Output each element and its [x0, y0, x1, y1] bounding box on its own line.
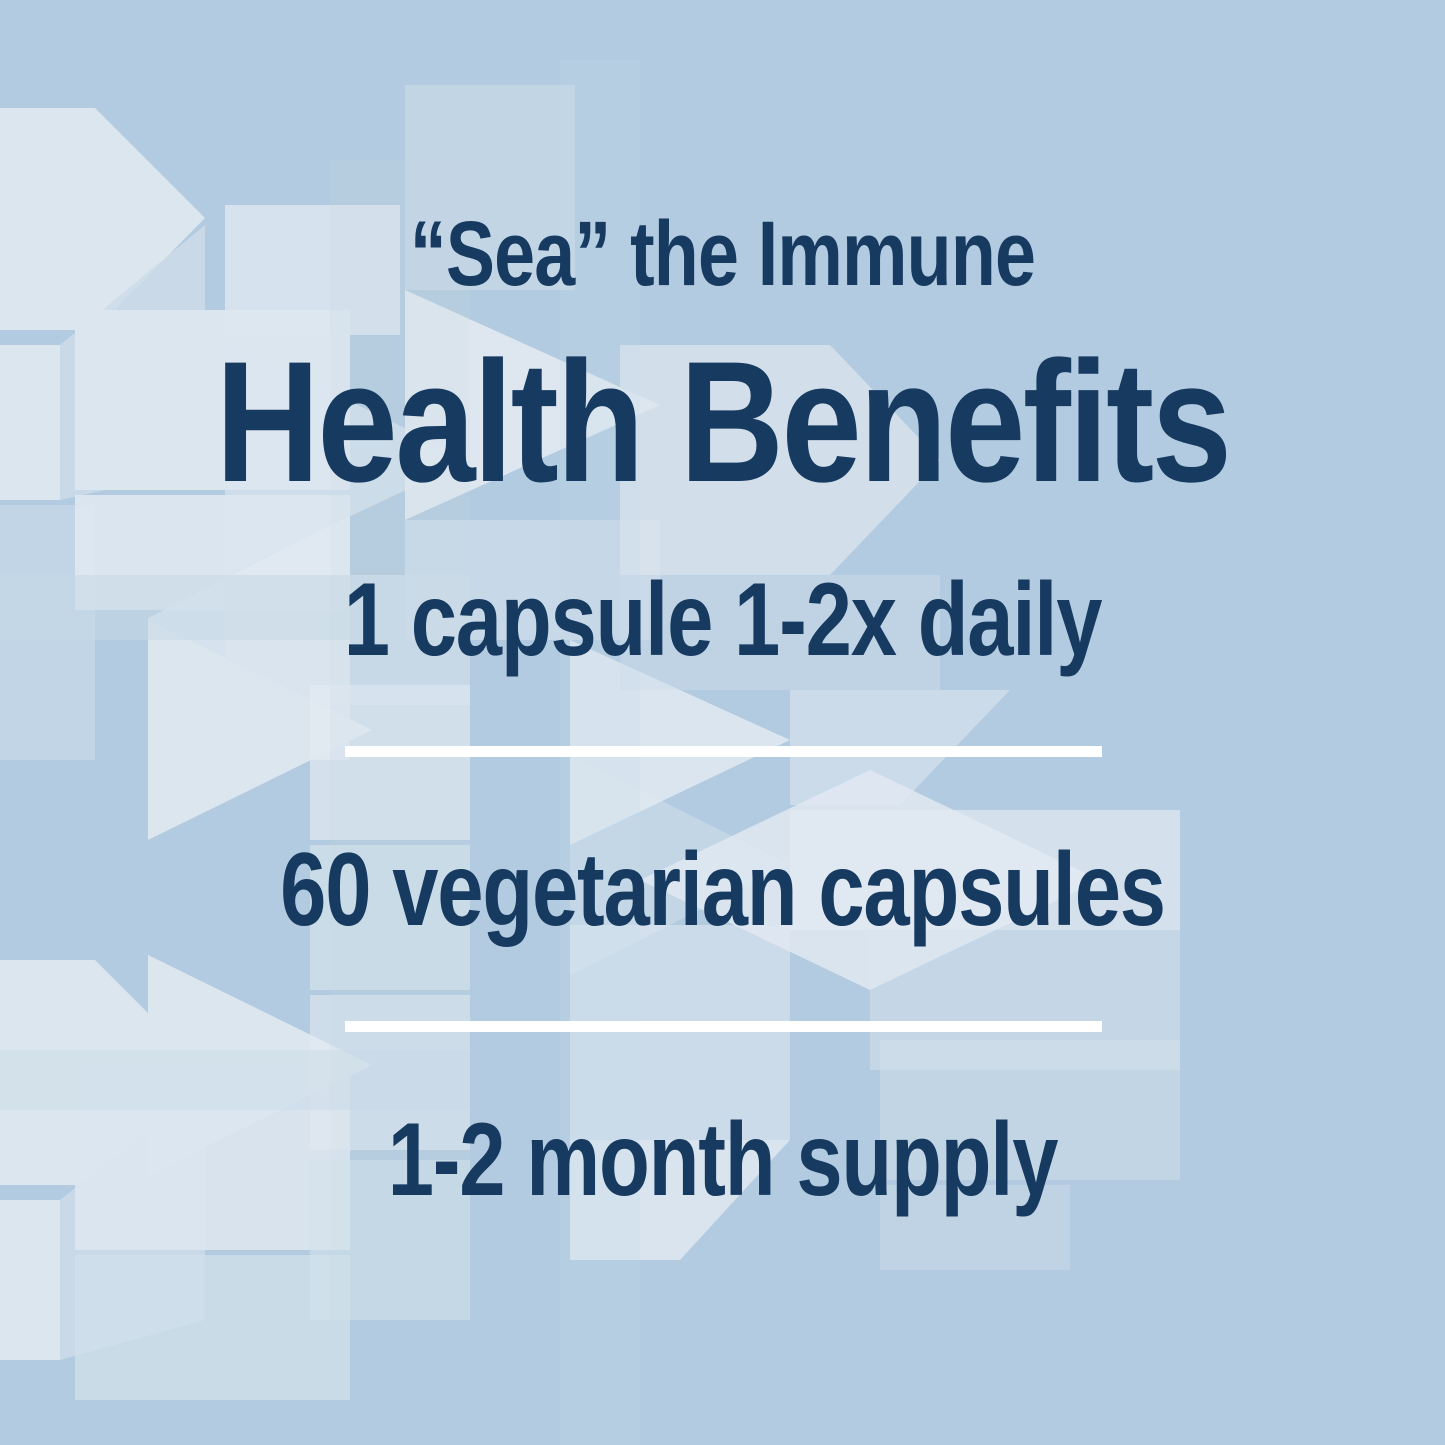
- page-title: Health Benefits: [116, 336, 1330, 508]
- divider-rule-1: [345, 746, 1102, 757]
- card-content: “Sea” the Immune Health Benefits 1 capsu…: [0, 0, 1445, 1445]
- fact-line-supply: 1-2 month supply: [145, 1108, 1301, 1212]
- fact-line-count: 60 vegetarian capsules: [145, 838, 1301, 942]
- divider-rule-2: [345, 1021, 1102, 1032]
- fact-line-dosage: 1 capsule 1-2x daily: [145, 568, 1301, 672]
- product-benefits-card: “Sea” the Immune Health Benefits 1 capsu…: [0, 0, 1445, 1445]
- eyebrow-heading: “Sea” the Immune: [145, 208, 1301, 300]
